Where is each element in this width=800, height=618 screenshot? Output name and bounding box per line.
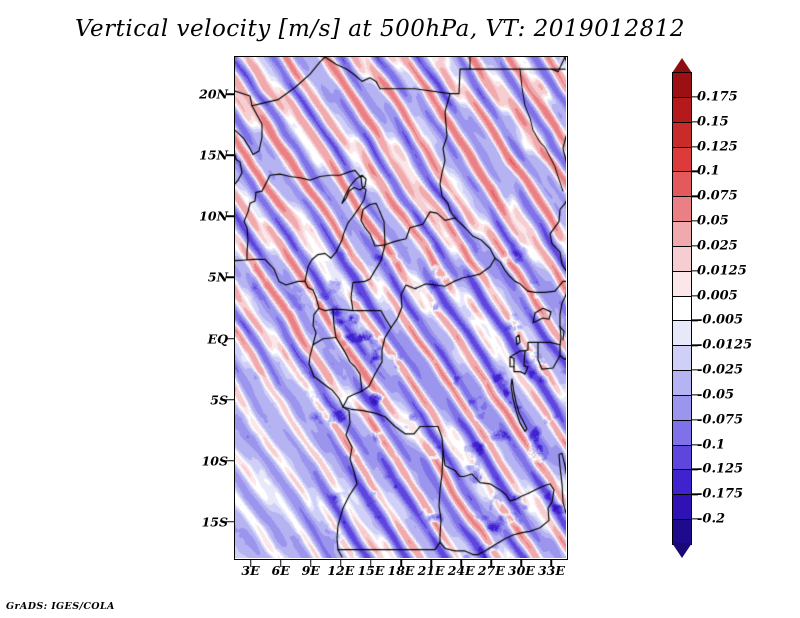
colorbar-tick-mark xyxy=(692,245,698,246)
country-borders-overlay xyxy=(235,57,566,558)
colorbar-tick-mark xyxy=(692,146,698,147)
colorbar-tick-mark xyxy=(692,394,698,395)
colorbar-band xyxy=(672,171,692,197)
grads-credit: GrADS: IGES/COLA xyxy=(6,601,115,612)
colorbar-band xyxy=(672,395,692,421)
y-axis-tick-mark xyxy=(226,155,234,157)
colorbar-tick-label: -0.1 xyxy=(697,437,725,452)
colorbar xyxy=(672,72,692,544)
colorbar-tick-label: -0.175 xyxy=(697,487,743,502)
colorbar-band xyxy=(672,469,692,495)
x-axis-tick-mark xyxy=(551,560,553,567)
colorbar-band xyxy=(672,320,692,346)
colorbar-band xyxy=(672,494,692,520)
colorbar-tick-mark xyxy=(692,320,698,321)
colorbar-tick-label: -0.075 xyxy=(697,412,743,427)
colorbar-tick-label: 0.0125 xyxy=(697,263,747,278)
chart-title: Vertical velocity [m/s] at 500hPa, VT: 2… xyxy=(0,16,760,42)
colorbar-tick-mark xyxy=(692,295,698,296)
colorbar-band xyxy=(672,147,692,173)
colorbar-tick-mark xyxy=(692,220,698,221)
colorbar-tick-label: 0.1 xyxy=(697,164,720,179)
colorbar-band xyxy=(672,196,692,222)
colorbar-top-arrow xyxy=(672,58,692,73)
colorbar-tick-label: 0.075 xyxy=(697,189,738,204)
colorbar-tick-label: -0.005 xyxy=(697,313,743,328)
x-axis-tick-mark xyxy=(280,560,282,567)
colorbar-tick-mark xyxy=(692,519,698,520)
colorbar-tick-mark xyxy=(692,419,698,420)
colorbar-band xyxy=(672,296,692,322)
colorbar-tick-mark xyxy=(692,196,698,197)
colorbar-tick-label: 0.005 xyxy=(697,288,738,303)
colorbar-tick-mark xyxy=(692,469,698,470)
y-axis-tick-mark xyxy=(226,216,234,218)
x-axis-tick-mark xyxy=(460,560,462,567)
y-axis-tick-label: 10N xyxy=(199,209,228,224)
colorbar-band xyxy=(672,445,692,471)
colorbar-tick-label: 0.025 xyxy=(697,238,738,253)
colorbar-tick-mark xyxy=(692,444,698,445)
colorbar-tick-mark xyxy=(692,270,698,271)
colorbar-tick-label: -0.025 xyxy=(697,363,743,378)
colorbar-band xyxy=(672,519,692,545)
colorbar-tick-label: 0.05 xyxy=(697,214,729,229)
y-axis-tick-label: 5N xyxy=(208,270,228,285)
x-axis-tick-mark xyxy=(430,560,432,567)
colorbar-tick-mark xyxy=(692,494,698,495)
map-plot-area xyxy=(234,56,568,560)
x-axis-tick-mark xyxy=(491,560,493,567)
y-axis-tick-label: EQ xyxy=(208,331,228,346)
x-axis-tick-mark xyxy=(521,560,523,567)
x-axis-tick-mark xyxy=(250,560,252,567)
y-axis-tick-mark xyxy=(226,277,234,279)
colorbar-tick-mark xyxy=(692,369,698,370)
colorbar-band xyxy=(672,420,692,446)
colorbar-band xyxy=(672,246,692,272)
colorbar-tick-mark xyxy=(692,171,698,172)
colorbar-tick-label: -0.125 xyxy=(697,462,743,477)
x-axis-tick-mark xyxy=(370,560,372,567)
colorbar-bottom-arrow xyxy=(672,543,692,558)
y-axis-tick-label: 10S xyxy=(202,453,228,468)
y-axis-tick-mark xyxy=(226,338,234,340)
colorbar-band xyxy=(672,345,692,371)
x-axis-tick-mark xyxy=(400,560,402,567)
colorbar-tick-mark xyxy=(692,345,698,346)
colorbar-band xyxy=(672,370,692,396)
colorbar-band xyxy=(672,122,692,148)
colorbar-tick-label: -0.05 xyxy=(697,387,734,402)
x-axis-tick-mark xyxy=(310,560,312,567)
colorbar-tick-label: 0.175 xyxy=(697,89,738,104)
y-axis-tick-label: 15S xyxy=(202,514,228,529)
colorbar-tick-label: -0.0125 xyxy=(697,338,752,353)
colorbar-tick-mark xyxy=(692,96,698,97)
colorbar-band xyxy=(672,221,692,247)
y-axis-tick-mark xyxy=(226,460,234,462)
x-axis-tick-mark xyxy=(340,560,342,567)
y-axis-tick-mark xyxy=(226,399,234,401)
colorbar-tick-mark xyxy=(692,121,698,122)
colorbar-band xyxy=(672,97,692,123)
y-axis-tick-mark xyxy=(226,93,234,95)
y-axis-tick-label: 15N xyxy=(199,148,228,163)
colorbar-tick-label: 0.125 xyxy=(697,139,738,154)
y-axis-tick-label: 20N xyxy=(199,87,228,102)
colorbar-tick-label: -0.2 xyxy=(697,512,725,527)
colorbar-band xyxy=(672,72,692,98)
colorbar-tick-label: 0.15 xyxy=(697,114,729,129)
y-axis-tick-mark xyxy=(226,521,234,523)
colorbar-band xyxy=(672,271,692,297)
